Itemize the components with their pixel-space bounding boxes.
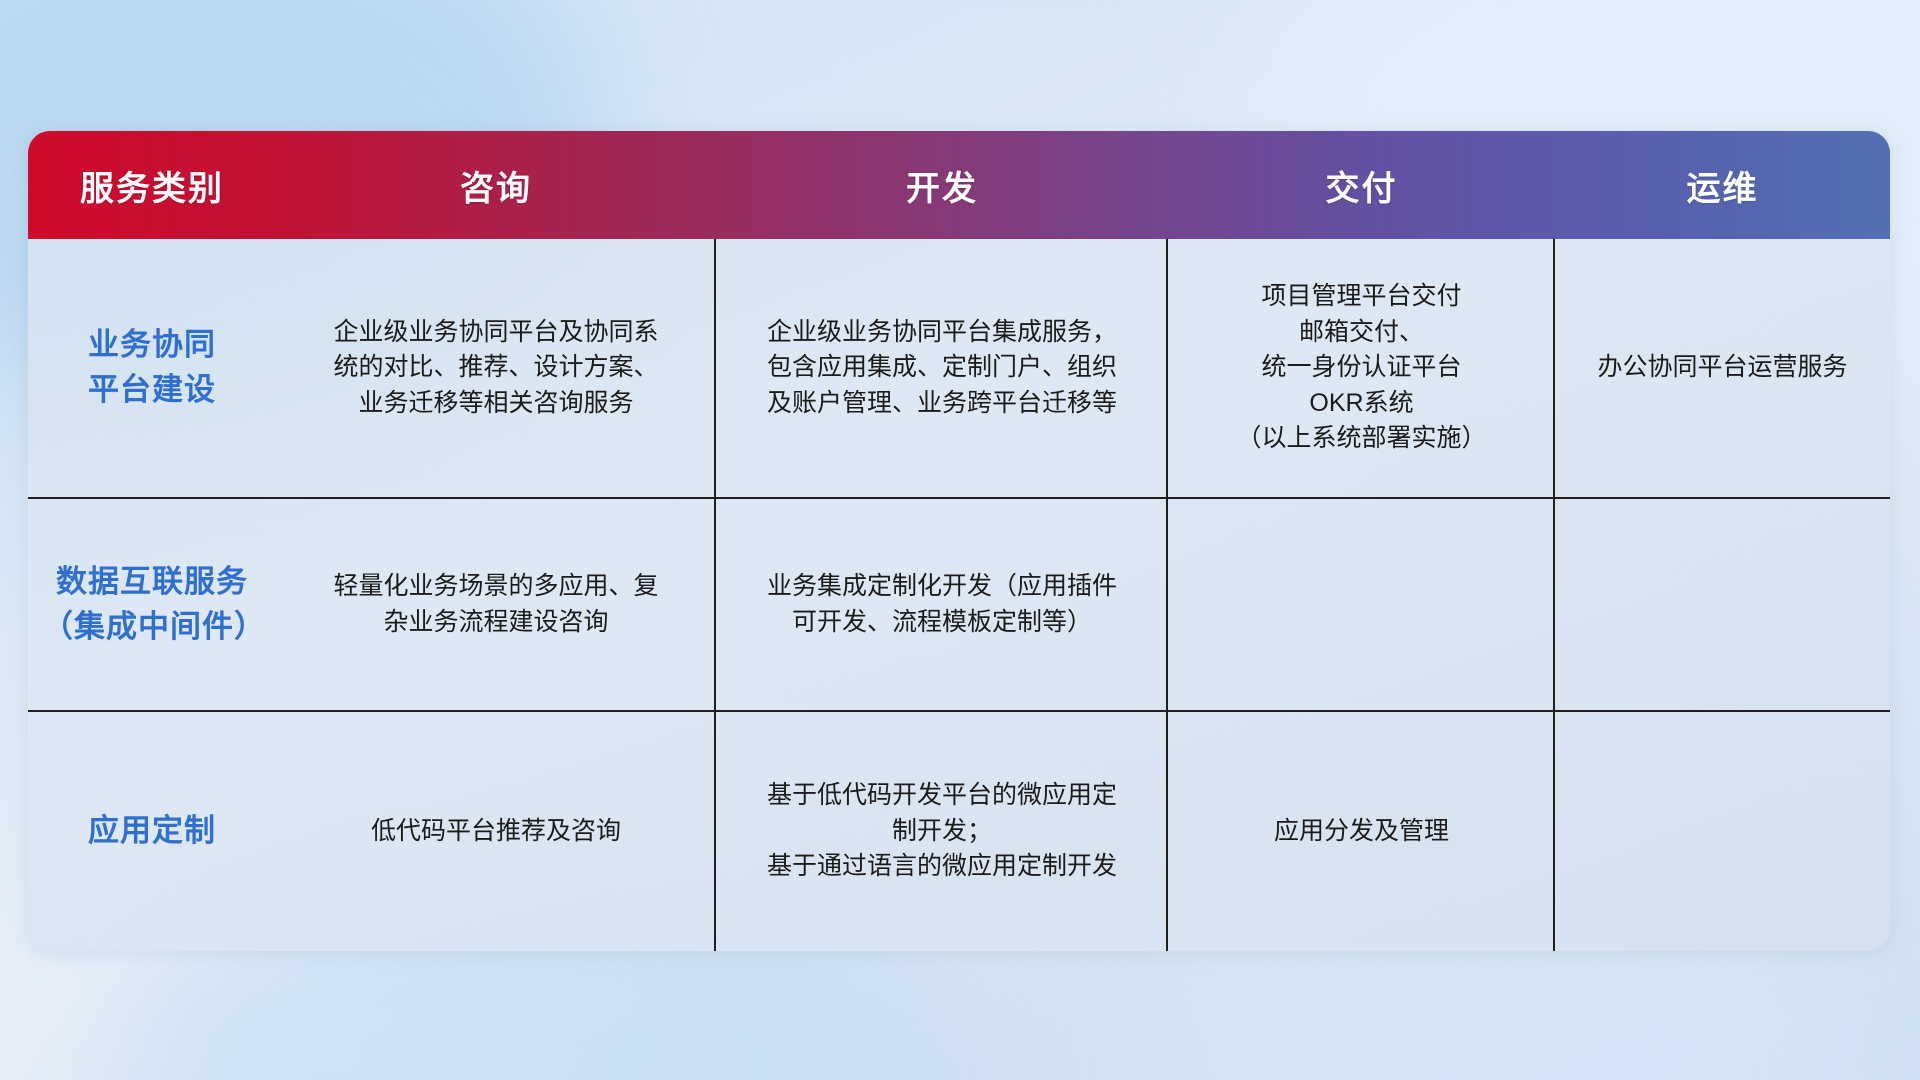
cell-development: 基于低代码开发平台的微应用定 制开发； 基于通过语言的微应用定制开发	[716, 712, 1168, 951]
cell-category: 数据互联服务 （集成中间件）	[28, 499, 276, 710]
table-header-row: 服务类别 咨询 开发 交付 运维	[28, 131, 1890, 239]
cell-consulting: 低代码平台推荐及咨询	[276, 712, 716, 951]
column-header-consulting: 咨询	[276, 161, 716, 210]
cell-delivery: 应用分发及管理	[1168, 712, 1555, 951]
table-row: 数据互联服务 （集成中间件） 轻量化业务场景的多应用、复 杂业务流程建设咨询 业…	[28, 497, 1890, 710]
cell-development: 业务集成定制化开发（应用插件 可开发、流程模板定制等）	[716, 499, 1168, 710]
table-row: 应用定制 低代码平台推荐及咨询 基于低代码开发平台的微应用定 制开发； 基于通过…	[28, 710, 1890, 951]
cell-consulting: 企业级业务协同平台及协同系 统的对比、推荐、设计方案、 业务迁移等相关咨询服务	[276, 239, 716, 497]
column-header-category: 服务类别	[28, 161, 276, 210]
cell-consulting: 轻量化业务场景的多应用、复 杂业务流程建设咨询	[276, 499, 716, 710]
table-body: 业务协同 平台建设 企业级业务协同平台及协同系 统的对比、推荐、设计方案、 业务…	[28, 239, 1890, 951]
cell-operations	[1555, 499, 1890, 710]
cell-development: 企业级业务协同平台集成服务， 包含应用集成、定制门户、组织 及账户管理、业务跨平…	[716, 239, 1168, 497]
cell-operations	[1555, 712, 1890, 951]
cell-delivery: 项目管理平台交付 邮箱交付、 统一身份认证平台 OKR系统 （以上系统部署实施）	[1168, 239, 1555, 497]
cell-category: 业务协同 平台建设	[28, 239, 276, 497]
cell-category: 应用定制	[28, 712, 276, 951]
column-header-delivery: 交付	[1168, 161, 1555, 210]
service-matrix-table: 服务类别 咨询 开发 交付 运维 业务协同 平台建设 企业级业务协同平台及协同系…	[28, 131, 1890, 951]
cell-delivery	[1168, 499, 1555, 710]
column-header-operations: 运维	[1555, 161, 1890, 210]
table-row: 业务协同 平台建设 企业级业务协同平台及协同系 统的对比、推荐、设计方案、 业务…	[28, 239, 1890, 497]
column-header-development: 开发	[716, 161, 1168, 210]
cell-operations: 办公协同平台运营服务	[1555, 239, 1890, 497]
